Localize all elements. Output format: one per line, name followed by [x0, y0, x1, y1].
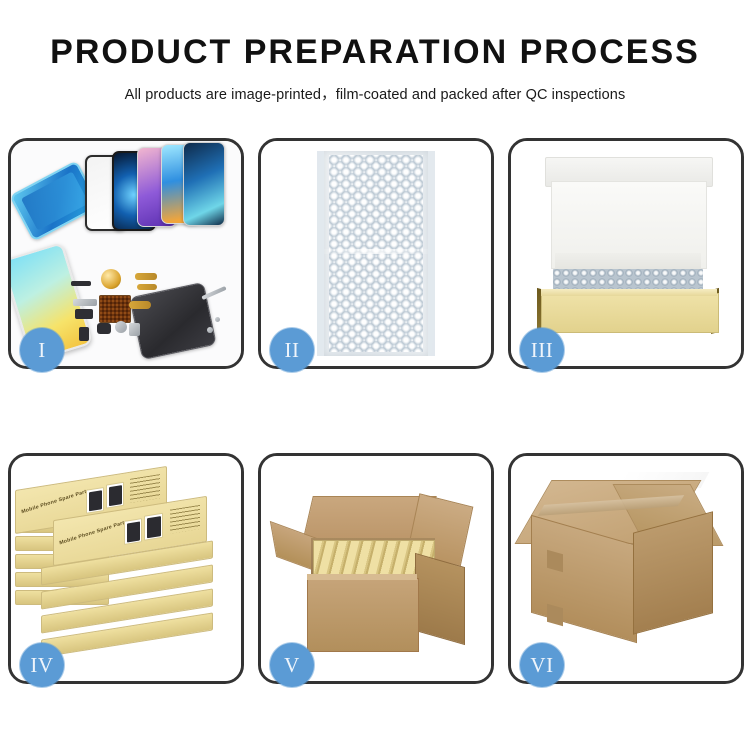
kraft-box-spec-lines-2 — [170, 505, 200, 534]
step-badge-5: V — [270, 643, 314, 687]
bubble-wrap-pouch-icon — [317, 151, 435, 356]
vibration-motor-icon — [101, 269, 121, 289]
part-camera-icon — [75, 309, 93, 319]
step-badge-3: III — [520, 328, 564, 372]
kraft-box-label-2: Mobile Phone Spare Parts — [59, 519, 128, 546]
kraft-box-window-3 — [124, 518, 142, 545]
part-sim-tray-icon — [129, 323, 140, 336]
process-step-card-5[interactable]: V — [258, 453, 494, 684]
page-title: PRODUCT PREPARATION PROCESS — [0, 32, 750, 72]
part-home-button-icon — [115, 321, 127, 333]
part-speaker-icon — [71, 281, 91, 286]
sealed-carton-side-panel — [633, 511, 713, 634]
part-screw-icon — [207, 327, 213, 333]
part-flex-cable-icon — [135, 273, 157, 280]
process-step-card-3[interactable]: III — [508, 138, 744, 369]
carton-tab-lower — [547, 604, 563, 627]
process-step-card-4[interactable]: Mobile Phone Spare Parts Mobile Phone Sp… — [8, 453, 244, 684]
phone-back-housing-icon — [129, 282, 217, 360]
kraft-box-window-4 — [144, 513, 163, 541]
step-badge-4: IV — [20, 643, 64, 687]
step-badge-6: VI — [520, 643, 564, 687]
kraft-box-window-2 — [106, 482, 124, 509]
box-front-panel — [541, 293, 719, 333]
box-front-rim — [541, 289, 717, 296]
carton-side-panel — [415, 553, 465, 645]
process-step-card-2[interactable]: II — [258, 138, 494, 369]
part-battery-icon — [79, 327, 89, 341]
process-step-grid: I II III — [8, 138, 742, 684]
kraft-box-label-1: Mobile Phone Spare Parts — [21, 488, 90, 515]
carton-front-rim — [307, 574, 417, 580]
process-step-card-6[interactable]: VI — [508, 453, 744, 684]
carton-front-panel — [307, 578, 419, 652]
step-badge-1: I — [20, 328, 64, 372]
pouch-seam — [324, 249, 428, 254]
part-bracket-icon — [73, 299, 97, 306]
chip-array-icon — [99, 295, 131, 323]
page-subtitle: All products are image-printed，film-coat… — [0, 83, 750, 104]
part-flex-cable-2-icon — [137, 284, 157, 290]
kraft-box-window-1 — [86, 487, 104, 514]
process-step-card-1[interactable]: I — [8, 138, 244, 369]
page-header: PRODUCT PREPARATION PROCESS All products… — [0, 0, 750, 104]
kraft-box-spec-lines-1 — [130, 474, 160, 503]
part-taptic-icon — [97, 323, 111, 334]
step-badge-2: II — [270, 328, 314, 372]
part-screw-2-icon — [215, 317, 220, 322]
phone-screen-teal-icon — [183, 142, 225, 226]
part-power-button-icon — [129, 301, 151, 309]
